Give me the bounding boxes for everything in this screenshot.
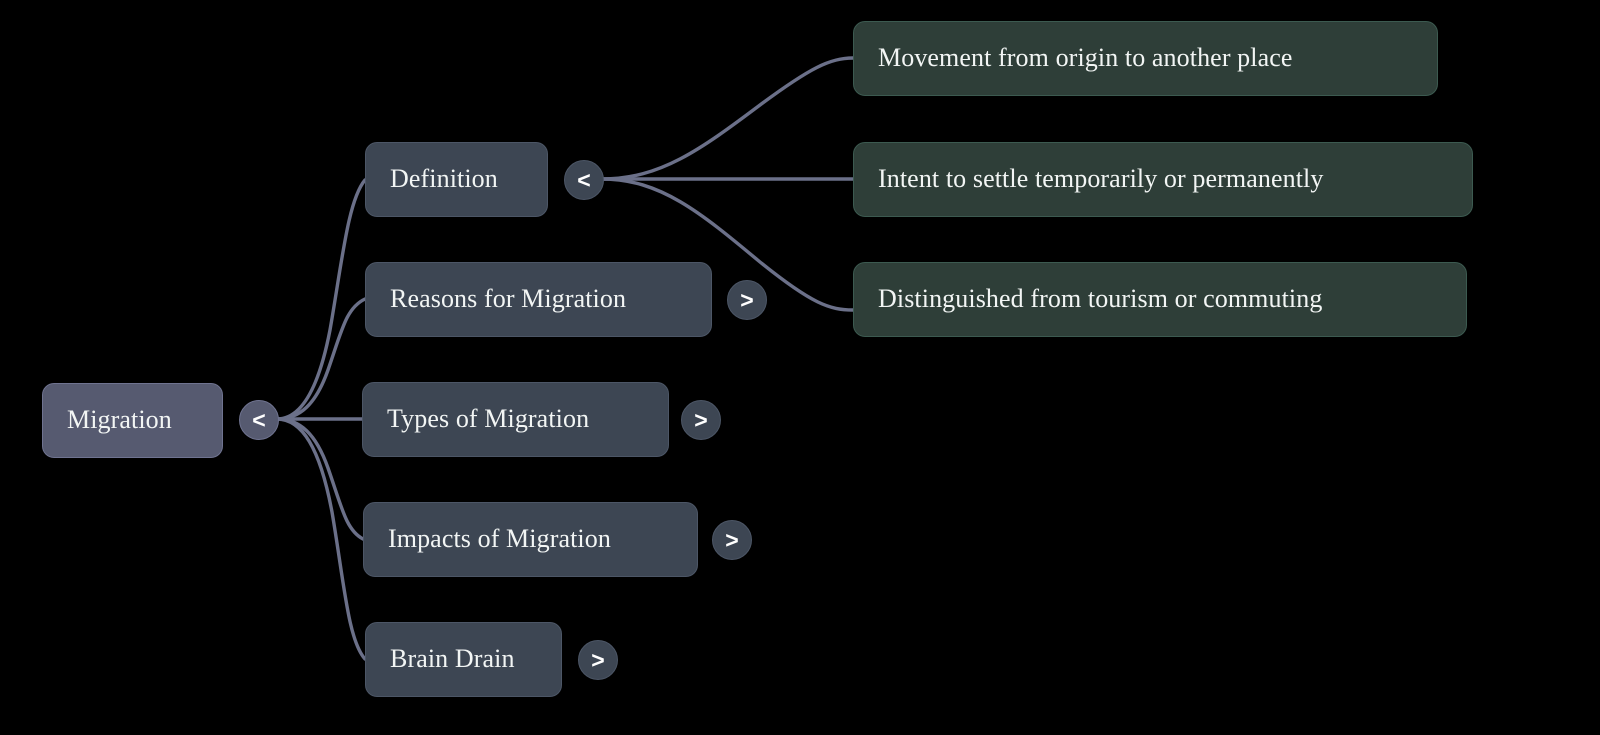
node-leaf-movement-from-origin[interactable]: Movement from origin to another place [853, 21, 1438, 96]
node-label: Impacts of Migration [388, 525, 611, 554]
chevron-left-icon: < [577, 167, 590, 194]
node-label: Brain Drain [390, 645, 515, 674]
node-label: Movement from origin to another place [878, 44, 1293, 73]
edge-root-to-impacts [277, 419, 363, 539]
mindmap-canvas: Migration < Definition < Reasons for Mig… [0, 0, 1600, 735]
node-leaf-intent-to-settle[interactable]: Intent to settle temporarily or permanen… [853, 142, 1473, 217]
node-label: Distinguished from tourism or commuting [878, 285, 1322, 314]
edge-root-to-definition [277, 180, 365, 419]
node-label: Intent to settle temporarily or permanen… [878, 165, 1323, 194]
node-label: Definition [390, 165, 498, 194]
edge-definition-to-leaf-1 [602, 58, 853, 179]
chevron-right-icon: > [591, 647, 604, 674]
toggle-branch-definition[interactable]: < [564, 160, 604, 200]
node-branch-definition[interactable]: Definition [365, 142, 548, 217]
edge-root-to-braindrain [277, 419, 365, 659]
chevron-right-icon: > [725, 527, 738, 554]
toggle-root-migration[interactable]: < [239, 400, 279, 440]
chevron-right-icon: > [740, 287, 753, 314]
node-label: Reasons for Migration [390, 285, 626, 314]
node-label: Types of Migration [387, 405, 589, 434]
node-branch-impacts-of-migration[interactable]: Impacts of Migration [363, 502, 698, 577]
node-branch-brain-drain[interactable]: Brain Drain [365, 622, 562, 697]
toggle-branch-types-of-migration[interactable]: > [681, 400, 721, 440]
node-branch-types-of-migration[interactable]: Types of Migration [362, 382, 669, 457]
chevron-right-icon: > [694, 407, 707, 434]
edge-layer [0, 0, 1600, 735]
node-leaf-distinguished-from-tourism[interactable]: Distinguished from tourism or commuting [853, 262, 1467, 337]
node-label: Migration [67, 406, 172, 435]
node-branch-reasons-for-migration[interactable]: Reasons for Migration [365, 262, 712, 337]
toggle-branch-reasons-for-migration[interactable]: > [727, 280, 767, 320]
edge-root-to-reasons [277, 299, 365, 419]
toggle-branch-impacts-of-migration[interactable]: > [712, 520, 752, 560]
toggle-branch-brain-drain[interactable]: > [578, 640, 618, 680]
chevron-left-icon: < [252, 407, 265, 434]
node-root-migration[interactable]: Migration [42, 383, 223, 458]
